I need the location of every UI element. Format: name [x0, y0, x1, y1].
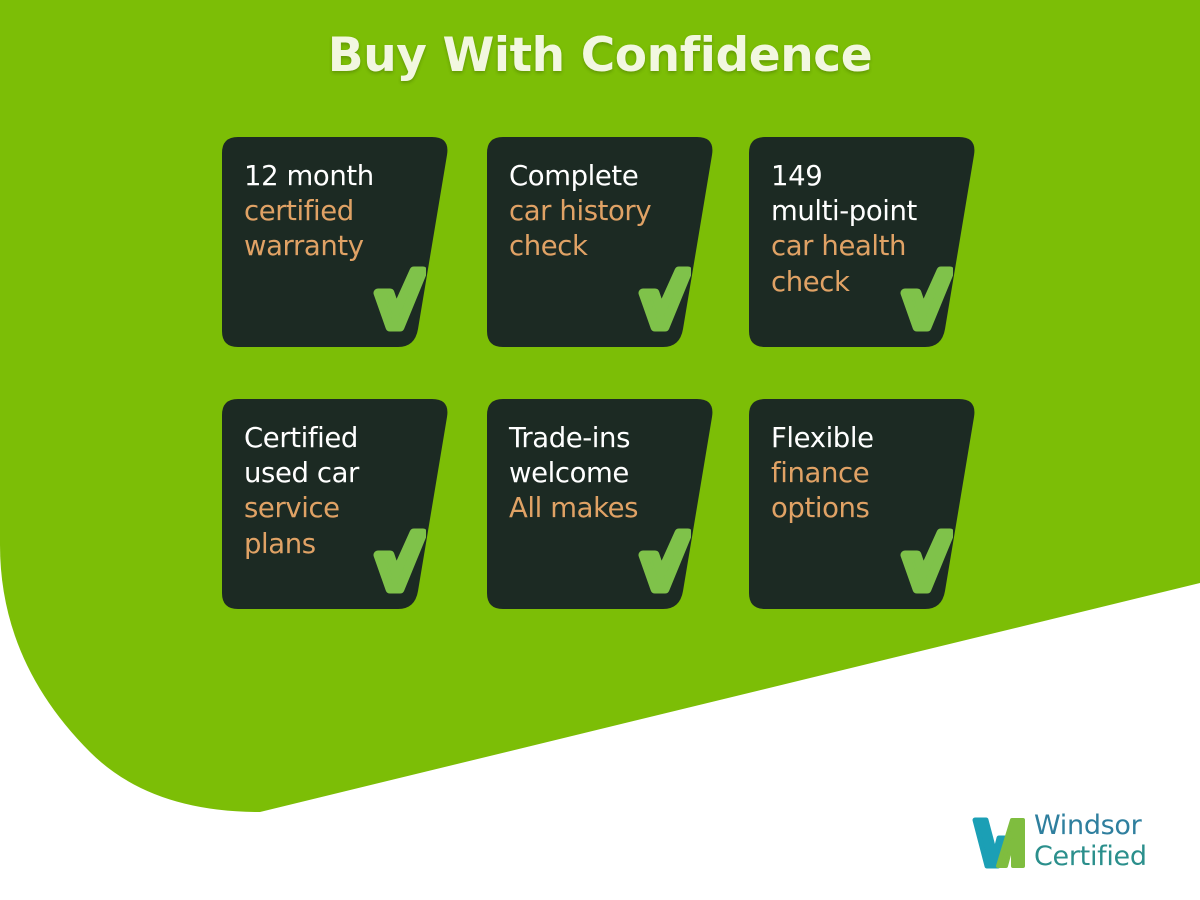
card-body: Flexible finance options	[749, 399, 977, 609]
green-tick-icon	[370, 525, 426, 595]
feature-card-certified-warranty[interactable]: 12 month certified warranty	[222, 137, 450, 347]
card-line-white: Complete	[509, 159, 689, 194]
card-line-white: multi-point	[771, 194, 951, 229]
card-text: Trade-ins welcome All makes	[509, 421, 689, 527]
card-line-accent: certified	[244, 194, 424, 229]
card-line-accent: options	[771, 491, 951, 526]
feature-card-car-history-check[interactable]: Complete car history check	[487, 137, 715, 347]
card-line-accent: service	[244, 491, 424, 526]
card-body: Trade-ins welcome All makes	[487, 399, 715, 609]
feature-card-trade-ins-welcome[interactable]: Trade-ins welcome All makes	[487, 399, 715, 609]
card-line-white: 12 month	[244, 159, 424, 194]
card-line-accent: All makes	[509, 491, 689, 526]
card-line-white: Certified	[244, 421, 424, 456]
card-line-white: 149	[771, 159, 951, 194]
card-line-accent: car history	[509, 194, 689, 229]
card-text: Complete car history check	[509, 159, 689, 265]
green-tick-icon	[635, 525, 691, 595]
feature-card-multi-point-health-check[interactable]: 149 multi-point car health check	[749, 137, 977, 347]
card-line-accent: warranty	[244, 229, 424, 264]
promo-banner: Buy With Confidence 12 month certified w…	[0, 0, 1200, 900]
logo-line-certified: Certified	[1034, 841, 1164, 872]
logo-line-windsor: Windsor	[1034, 810, 1164, 841]
card-line-white: welcome	[509, 456, 689, 491]
card-line-accent: check	[509, 229, 689, 264]
card-line-accent: car health	[771, 229, 951, 264]
logo-wordmark: Windsor Certified	[1034, 810, 1164, 874]
page-title: Buy With Confidence	[0, 28, 1200, 83]
card-text: 12 month certified warranty	[244, 159, 424, 265]
card-line-white: Flexible	[771, 421, 951, 456]
green-tick-icon	[897, 263, 953, 333]
features-grid: 12 month certified warranty Complete car…	[222, 137, 982, 607]
green-tick-icon	[370, 263, 426, 333]
card-body: Complete car history check	[487, 137, 715, 347]
green-tick-icon	[897, 525, 953, 595]
brand-logo[interactable]: Windsor Certified	[968, 808, 1163, 880]
feature-card-used-car-service-plans[interactable]: Certified used car service plans	[222, 399, 450, 609]
card-text: Flexible finance options	[771, 421, 951, 527]
card-line-white: Trade-ins	[509, 421, 689, 456]
windsor-w-icon	[968, 810, 1030, 872]
card-line-accent: finance	[771, 456, 951, 491]
feature-card-flexible-finance[interactable]: Flexible finance options	[749, 399, 977, 609]
card-body: Certified used car service plans	[222, 399, 450, 609]
green-tick-icon	[635, 263, 691, 333]
card-line-white: used car	[244, 456, 424, 491]
card-body: 12 month certified warranty	[222, 137, 450, 347]
card-body: 149 multi-point car health check	[749, 137, 977, 347]
